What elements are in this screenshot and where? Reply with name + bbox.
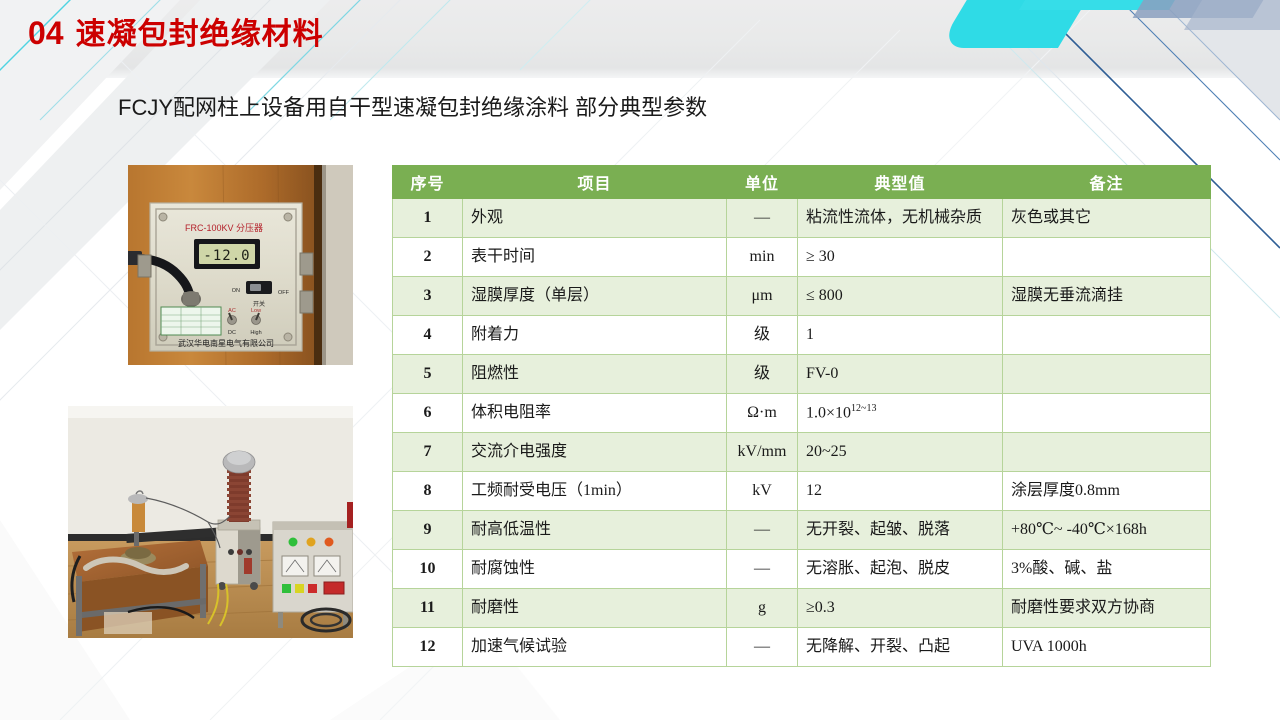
- header-band-fade: [0, 68, 1280, 78]
- cell-unit: 级: [727, 316, 798, 355]
- cell-note: 耐磨性要求双方协商: [1003, 589, 1211, 628]
- cell-no: 4: [393, 316, 463, 355]
- cell-unit: Ω·m: [727, 394, 798, 433]
- cell-value: FV-0: [798, 355, 1003, 394]
- cell-unit: —: [727, 550, 798, 589]
- cell-no: 12: [393, 628, 463, 667]
- svg-text:ON: ON: [232, 288, 240, 294]
- slide-title: 04 速凝包封绝缘材料: [28, 17, 324, 50]
- svg-text:AC: AC: [228, 308, 236, 314]
- cell-note: UVA 1000h: [1003, 628, 1211, 667]
- svg-text:武汉华电南星电气有限公司: 武汉华电南星电气有限公司: [178, 338, 274, 348]
- table-row: 1外观—粘流性流体，无机械杂质灰色或其它: [393, 199, 1211, 238]
- cell-note: 涂层厚度0.8mm: [1003, 472, 1211, 511]
- cell-value: 无开裂、起皱、脱落: [798, 511, 1003, 550]
- table-row: 2表干时间min≥ 30: [393, 238, 1211, 277]
- cell-note: 3%酸、碱、盐: [1003, 550, 1211, 589]
- exponent: 12~13: [851, 403, 876, 414]
- cell-unit: min: [727, 238, 798, 277]
- cell-item: 耐磨性: [463, 589, 727, 628]
- table-row: 10耐腐蚀性—无溶胀、起泡、脱皮3%酸、碱、盐: [393, 550, 1211, 589]
- cell-note: [1003, 433, 1211, 472]
- cell-unit: kV/mm: [727, 433, 798, 472]
- cell-note: [1003, 238, 1211, 277]
- device-photo-graphic: FRC-100KV 分压器 -12.0 输入 ON OFF 开关: [128, 165, 353, 365]
- column-header-note: 备注: [1003, 166, 1211, 199]
- cell-item: 体积电阻率: [463, 394, 727, 433]
- svg-text:High: High: [250, 330, 261, 336]
- table-row: 6体积电阻率Ω·m1.0×1012~13: [393, 394, 1211, 433]
- table-row: 4附着力级1: [393, 316, 1211, 355]
- cell-value: ≥0.3: [798, 589, 1003, 628]
- table-row: 5阻燃性级FV-0: [393, 355, 1211, 394]
- svg-text:OFF: OFF: [278, 290, 290, 296]
- cell-note: +80℃~ -40℃×168h: [1003, 511, 1211, 550]
- cell-no: 10: [393, 550, 463, 589]
- cell-value: 粘流性流体，无机械杂质: [798, 199, 1003, 238]
- slide-subtitle: FCJY配网柱上设备用自干型速凝包封绝缘涂料 部分典型参数: [118, 90, 707, 122]
- column-header-no: 序号: [393, 166, 463, 199]
- svg-text:FRC-100KV 分压器: FRC-100KV 分压器: [185, 223, 263, 233]
- cell-value: 12: [798, 472, 1003, 511]
- cell-value: ≥ 30: [798, 238, 1003, 277]
- cell-no: 8: [393, 472, 463, 511]
- blue-grey-accent-shape-2: [1184, 0, 1280, 30]
- svg-text:DC: DC: [228, 330, 236, 336]
- slide-canvas: 04 速凝包封绝缘材料 FCJY配网柱上设备用自干型速凝包封绝缘涂料 部分典型参…: [0, 0, 1280, 720]
- table-row: 3湿膜厚度（单层）μm≤ 800湿膜无垂流滴挂: [393, 277, 1211, 316]
- cell-no: 2: [393, 238, 463, 277]
- svg-text:Low: Low: [251, 308, 261, 314]
- cell-unit: g: [727, 589, 798, 628]
- svg-text:开关: 开关: [253, 300, 265, 308]
- cell-unit: kV: [727, 472, 798, 511]
- cell-note: [1003, 394, 1211, 433]
- cell-value: 1.0×1012~13: [798, 394, 1003, 433]
- slide-title-number: 04: [28, 17, 64, 49]
- parameter-table: 序号 项目 单位 典型值 备注 1外观—粘流性流体，无机械杂质灰色或其它2表干时…: [392, 165, 1211, 667]
- table-header-row: 序号 项目 单位 典型值 备注: [393, 166, 1211, 199]
- cell-no: 11: [393, 589, 463, 628]
- table-row: 7交流介电强度kV/mm20~25: [393, 433, 1211, 472]
- column-header-value: 典型值: [798, 166, 1003, 199]
- cell-item: 耐高低温性: [463, 511, 727, 550]
- cell-no: 9: [393, 511, 463, 550]
- table-row: 9耐高低温性—无开裂、起皱、脱落+80℃~ -40℃×168h: [393, 511, 1211, 550]
- cell-no: 6: [393, 394, 463, 433]
- cell-item: 阻燃性: [463, 355, 727, 394]
- table-row: 8工频耐受电压（1min）kV12涂层厚度0.8mm: [393, 472, 1211, 511]
- cell-item: 表干时间: [463, 238, 727, 277]
- cell-unit: μm: [727, 277, 798, 316]
- cell-value: ≤ 800: [798, 277, 1003, 316]
- cell-unit: —: [727, 511, 798, 550]
- voltage-divider-device-photo: FRC-100KV 分压器 -12.0 输入 ON OFF 开关: [128, 165, 353, 365]
- cell-no: 1: [393, 199, 463, 238]
- cell-note: [1003, 355, 1211, 394]
- cell-no: 5: [393, 355, 463, 394]
- cell-item: 附着力: [463, 316, 727, 355]
- column-header-item: 项目: [463, 166, 727, 199]
- table-row: 12加速气候试验—无降解、开裂、凸起UVA 1000h: [393, 628, 1211, 667]
- cell-item: 加速气候试验: [463, 628, 727, 667]
- cell-unit: —: [727, 199, 798, 238]
- cell-item: 外观: [463, 199, 727, 238]
- cell-value: 1: [798, 316, 1003, 355]
- cell-unit: —: [727, 628, 798, 667]
- cell-note: 湿膜无垂流滴挂: [1003, 277, 1211, 316]
- lab-photo-graphic: [68, 406, 353, 638]
- slide-title-text: 速凝包封绝缘材料: [76, 20, 324, 50]
- cell-note: 灰色或其它: [1003, 199, 1211, 238]
- column-header-unit: 单位: [727, 166, 798, 199]
- cell-value: 20~25: [798, 433, 1003, 472]
- cell-item: 交流介电强度: [463, 433, 727, 472]
- table-row: 11耐磨性g≥0.3耐磨性要求双方协商: [393, 589, 1211, 628]
- cell-item: 耐腐蚀性: [463, 550, 727, 589]
- cell-value: 无溶胀、起泡、脱皮: [798, 550, 1003, 589]
- cell-unit: 级: [727, 355, 798, 394]
- svg-text:-12.0: -12.0: [203, 248, 250, 264]
- high-voltage-test-lab-photo: [68, 406, 353, 638]
- cell-no: 3: [393, 277, 463, 316]
- cell-note: [1003, 316, 1211, 355]
- cell-item: 工频耐受电压（1min）: [463, 472, 727, 511]
- cell-no: 7: [393, 433, 463, 472]
- cell-value: 无降解、开裂、凸起: [798, 628, 1003, 667]
- table-body: 1外观—粘流性流体，无机械杂质灰色或其它2表干时间min≥ 303湿膜厚度（单层…: [393, 199, 1211, 667]
- cell-item: 湿膜厚度（单层）: [463, 277, 727, 316]
